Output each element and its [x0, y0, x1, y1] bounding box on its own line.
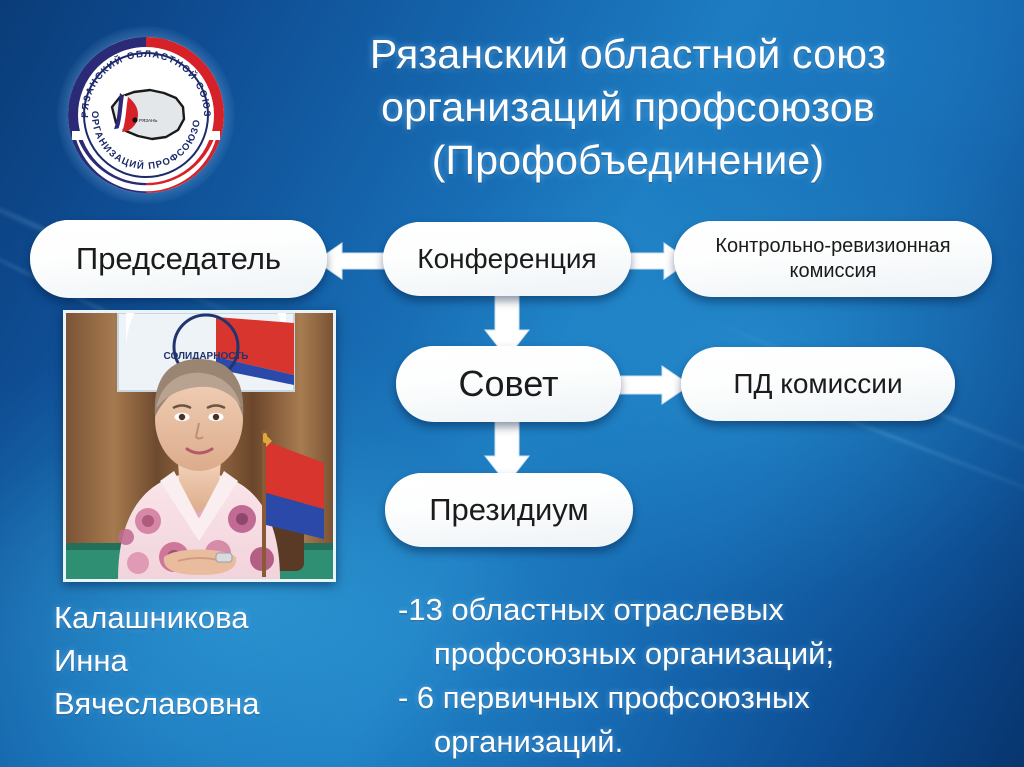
notes-line-2: профсоюзных организаций; [398, 632, 1013, 676]
notes-line-1: -13 областных отраслевых [398, 588, 1013, 632]
node-sovet-label: Совет [458, 363, 558, 405]
node-prezidium-label: Президиум [429, 492, 588, 528]
slide-title: Рязанский областной союз организаций про… [248, 28, 1008, 187]
arrow-sovet-to-pd [612, 362, 690, 408]
notes-line-3: - 6 первичных профсоюзных [398, 676, 1013, 720]
node-pd-label: ПД комиссии [733, 368, 902, 400]
name-line-2: Инна [54, 639, 394, 682]
name-line-3: Вячеславовна [54, 682, 394, 725]
title-line-2: организаций профсоюзов [248, 81, 1008, 134]
chairperson-name: Калашникова Инна Вячеславовна [54, 596, 394, 725]
emblem-icon: РЯЗАНЬ РЯЗАНСКИЙ ОБЛАСТНОЙ СОЮЗ ОРГАНИЗА… [66, 35, 226, 195]
membership-notes: -13 областных отраслевых профсоюзных орг… [398, 588, 1013, 764]
node-pd-komissii[interactable]: ПД комиссии [681, 347, 955, 421]
node-krk-label: Контрольно-ревизионная комиссия [688, 234, 978, 284]
node-konferenciya[interactable]: Конференция [383, 222, 631, 296]
node-kontrolno-revizionnaya-komissiya[interactable]: Контрольно-ревизионная комиссия [674, 221, 992, 297]
portrait-image: СОЛИДАРНОСТЬ [66, 313, 333, 579]
node-prezidium[interactable]: Президиум [385, 473, 633, 547]
node-predsedatel-label: Председатель [76, 241, 281, 277]
title-line-3: (Профобъединение) [248, 134, 1008, 187]
slide-canvas: РЯЗАНЬ РЯЗАНСКИЙ ОБЛАСТНОЙ СОЮЗ ОРГАНИЗА… [0, 0, 1024, 767]
name-line-1: Калашникова [54, 596, 394, 639]
organization-logo: РЯЗАНЬ РЯЗАНСКИЙ ОБЛАСТНОЙ СОЮЗ ОРГАНИЗА… [57, 26, 235, 204]
node-sovet[interactable]: Совет [396, 346, 621, 422]
notes-line-4: организаций. [398, 720, 1013, 764]
node-predsedatel[interactable]: Председатель [30, 220, 327, 298]
svg-text:РЯЗАНЬ: РЯЗАНЬ [139, 118, 157, 123]
title-line-1: Рязанский областной союз [248, 28, 1008, 81]
node-konferenciya-label: Конференция [417, 243, 596, 275]
chairperson-photo: СОЛИДАРНОСТЬ [63, 310, 336, 582]
